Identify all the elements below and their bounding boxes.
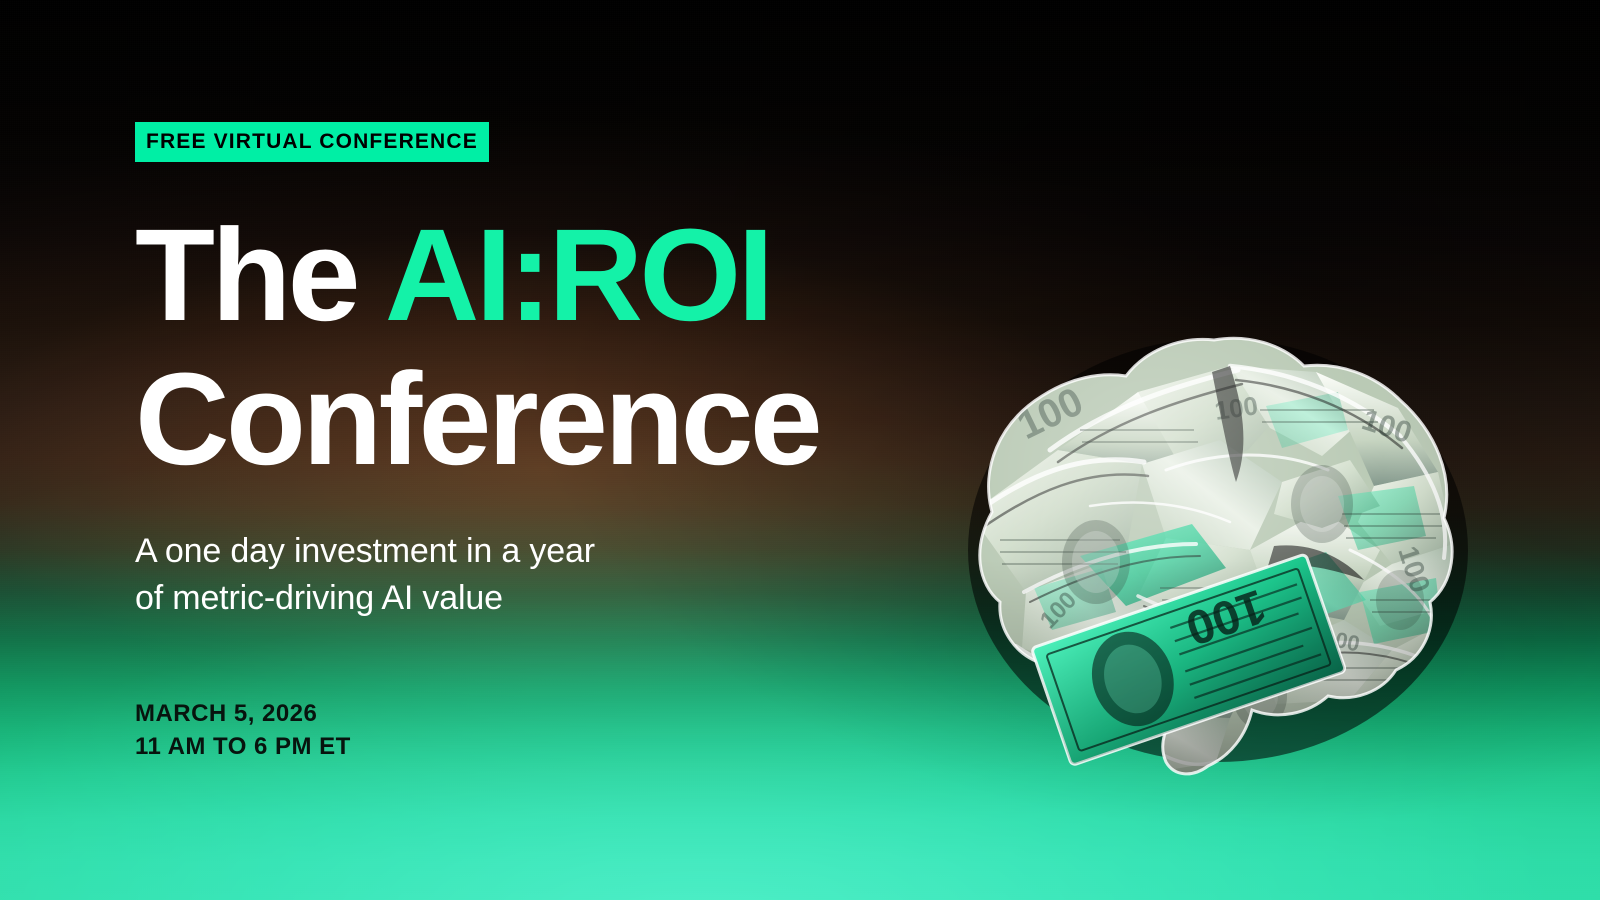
money-brain-svg: 100 100 100 100 100 100 [930, 300, 1500, 800]
headline-prefix: The [135, 201, 385, 348]
event-date: MARCH 5, 2026 [135, 697, 351, 730]
event-datetime: MARCH 5, 2026 11 AM TO 6 PM ET [135, 697, 351, 763]
money-brain-illustration: 100 100 100 100 100 100 [930, 300, 1500, 800]
headline-line-2: Conference [135, 345, 819, 492]
event-tagline: A one day investment in a year of metric… [135, 528, 835, 622]
tagline-line-2: of metric-driving AI value [135, 575, 835, 622]
event-time: 11 AM TO 6 PM ET [135, 730, 351, 763]
headline-accent: AI:ROI [385, 201, 771, 348]
page-title: The AI:ROI Conference [135, 203, 995, 491]
banner-canvas: 100 100 100 100 100 100 [0, 0, 1600, 900]
event-type-badge: FREE VIRTUAL CONFERENCE [135, 122, 489, 162]
brain-bill-collage: 100 100 100 100 100 100 [930, 300, 1500, 800]
tagline-line-1: A one day investment in a year [135, 528, 835, 575]
headline-line-1: The AI:ROI [135, 201, 770, 348]
hero-content: FREE VIRTUAL CONFERENCE The AI:ROI Confe… [135, 0, 995, 900]
